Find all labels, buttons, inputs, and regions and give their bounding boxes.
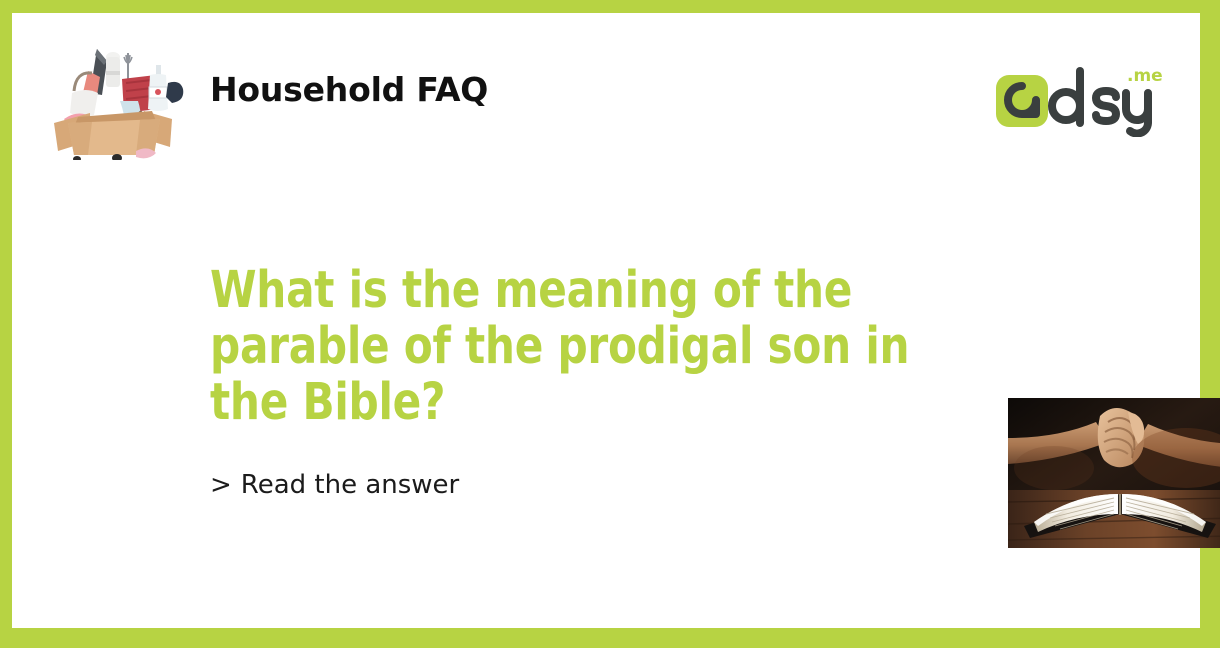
chevron-right-icon: > xyxy=(210,470,232,500)
read-the-answer-link[interactable]: >Read the answer xyxy=(210,470,459,500)
praying-hands-over-open-bible-photo xyxy=(1008,398,1220,548)
adsy-logo[interactable]: .me adsy .me xyxy=(994,61,1164,137)
cardboard-box-of-household-items-icon xyxy=(44,35,184,160)
page-frame: Household FAQ .me adsy xyxy=(0,0,1220,648)
main-content: What is the meaning of the parable of th… xyxy=(210,263,1200,628)
svg-text:.me: .me xyxy=(1127,66,1163,86)
faq-question-headline: What is the meaning of the parable of th… xyxy=(210,263,983,431)
read-the-answer-label: Read the answer xyxy=(241,470,459,500)
page-title: Household FAQ xyxy=(210,70,488,109)
header: Household FAQ .me adsy xyxy=(12,13,1200,168)
page-canvas: Household FAQ .me adsy xyxy=(12,13,1200,628)
